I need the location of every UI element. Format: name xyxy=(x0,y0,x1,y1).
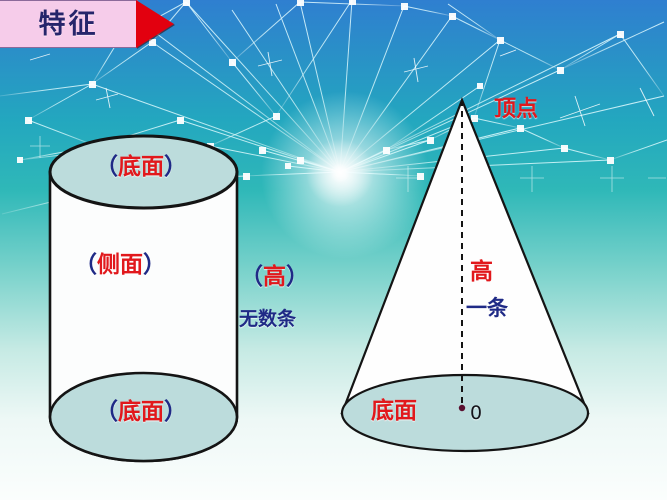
paren-open: （ xyxy=(240,264,263,290)
title-banner: 特征 xyxy=(0,0,138,48)
cone-height-label: 高 xyxy=(470,261,493,284)
right-arrow-icon xyxy=(136,0,174,48)
label-text: 底面 xyxy=(118,154,164,180)
cone-apex-label: 顶点 xyxy=(494,99,538,121)
cone-center-point-label: 0 xyxy=(470,404,482,423)
paren-close: ） xyxy=(164,399,187,425)
slide-canvas: 特征 （底面） （侧面） （底面） （高） 无数条 顶点 高 一条 底面 xyxy=(0,0,667,500)
paren-open: （ xyxy=(74,252,97,278)
cone-body xyxy=(342,100,588,413)
paren-close: ） xyxy=(286,264,309,290)
cone-height-count-label: 一条 xyxy=(466,298,508,319)
cylinder-height-count-label: 无数条 xyxy=(239,310,296,329)
cylinder-top-base-label: （底面） xyxy=(95,156,187,179)
paren-close: ） xyxy=(164,154,187,180)
geometry-figures xyxy=(0,0,667,500)
paren-close: ） xyxy=(143,252,166,278)
paren-open: （ xyxy=(95,399,118,425)
label-text: 侧面 xyxy=(97,252,143,278)
cylinder-height-label: （高） xyxy=(240,266,309,289)
cylinder-lateral-surface-label: （侧面） xyxy=(74,254,166,277)
cone-center-point-dot xyxy=(459,405,465,411)
label-text: 底面 xyxy=(118,399,164,425)
paren-open: （ xyxy=(95,154,118,180)
page-title: 特征 xyxy=(39,11,99,38)
label-text: 高 xyxy=(263,264,286,290)
cone-base-label: 底面 xyxy=(371,400,417,423)
cylinder-bottom-base-label: （底面） xyxy=(95,401,187,424)
